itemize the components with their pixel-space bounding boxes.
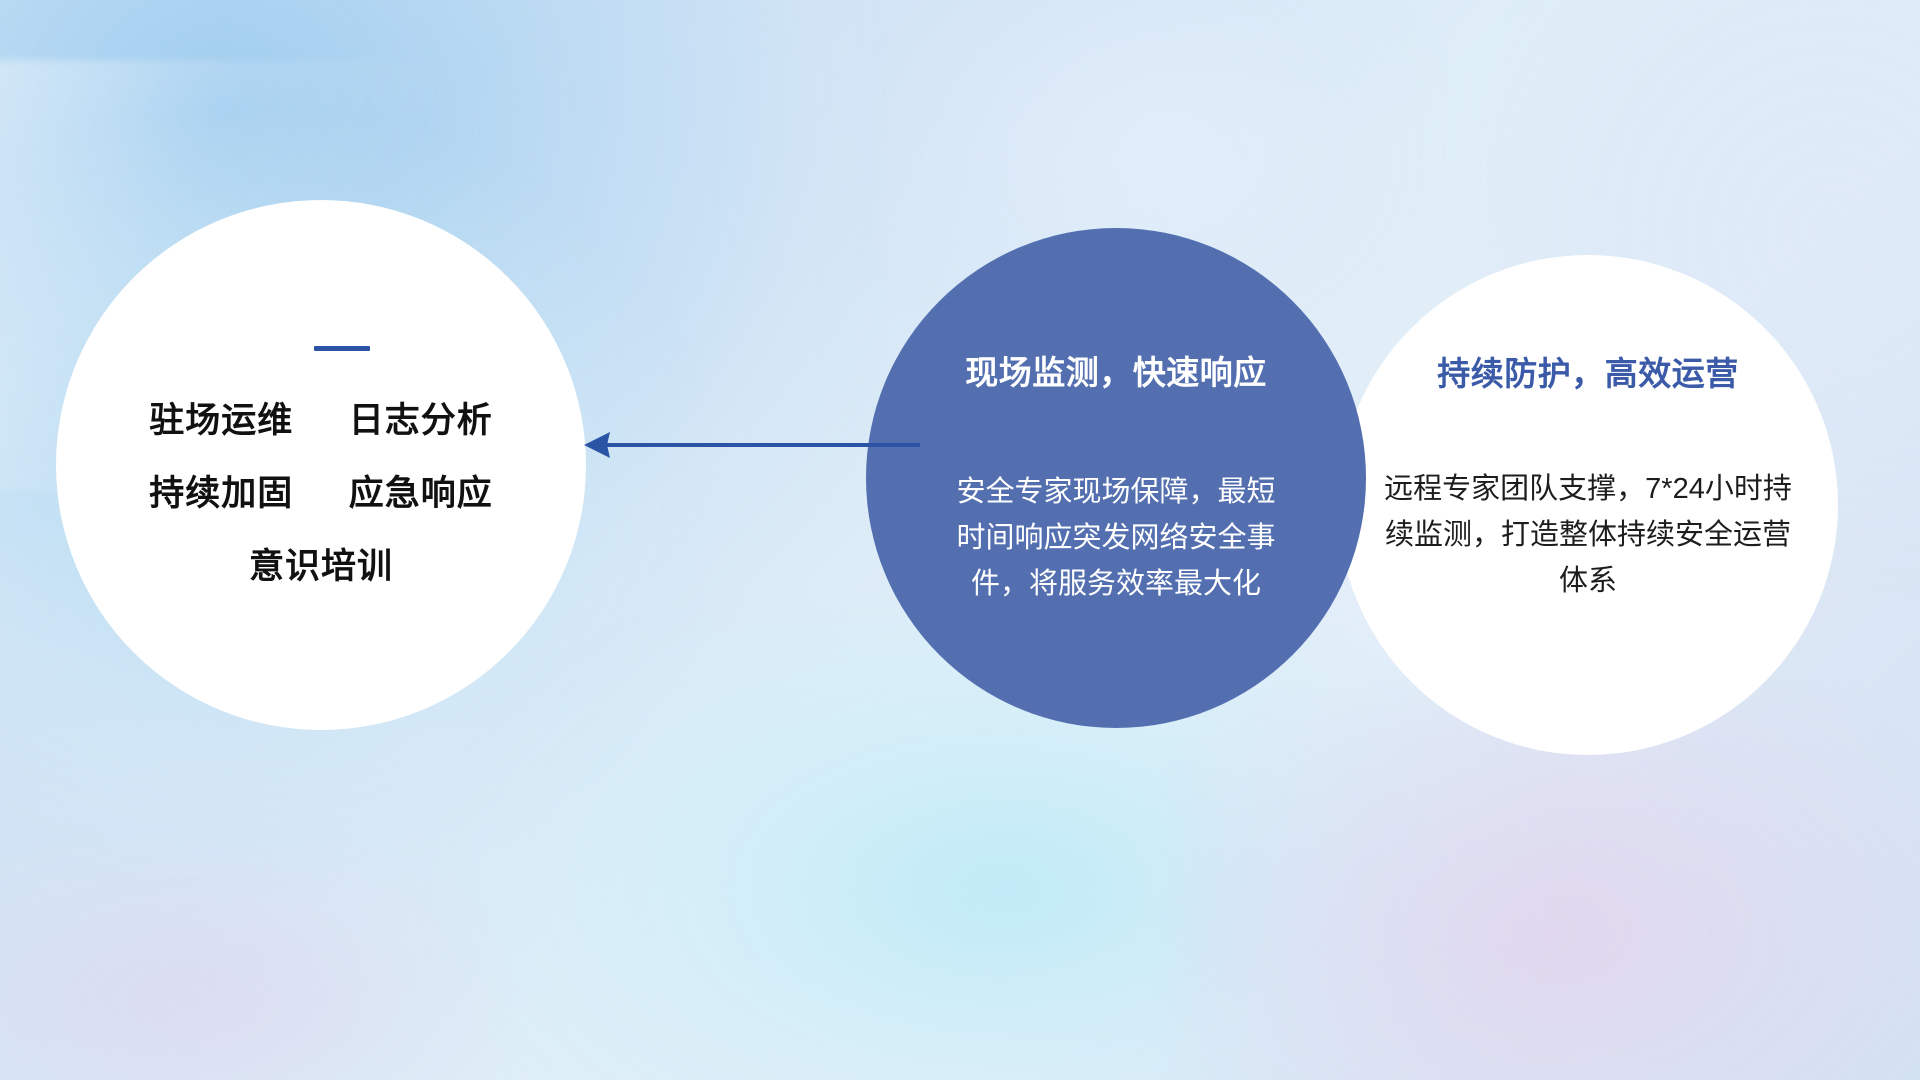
background-glow-bottom-lilac [1180,700,1920,1080]
left-circle-line-3: 意识培训 [249,549,393,584]
left-tag-yishipeixun: 意识培训 [249,547,393,586]
right-circle-heading: 持续防护，高效运营 [1437,347,1739,395]
left-tag-chixujiagu: 持续加固 [149,474,293,513]
right-circle-content: 持续防护，高效运营 远程专家团队支撑，7*24小时持续监测，打造整体持续安全运营… [1338,255,1838,755]
left-tag-zhuchangyunwei: 驻场运维 [149,401,293,440]
left-circle-content: 驻场运维 日志分析 持续加固 应急响应 意识培训 [56,200,586,730]
left-tag-rizhifenxi: 日志分析 [349,401,493,440]
middle-circle-body-text: 安全专家现场保障，最短时间响应突发网络安全事件，将服务效率最大化 [951,470,1281,607]
right-circle-body-text: 远程专家团队支撑，7*24小时持续监测，打造整体持续安全运营体系 [1383,467,1793,604]
background-glow-bottom-left-lilac [0,840,500,1080]
left-tag-yingjixiangying: 应急响应 [349,474,493,513]
middle-circle-heading: 现场监测，快速响应 [965,346,1267,394]
left-circle-line-1: 驻场运维 日志分析 [149,403,493,438]
slide-canvas: 驻场运维 日志分析 持续加固 应急响应 意识培训 持续防护，高效运营 远程专家团… [0,0,1920,1080]
left-circle-divider [314,346,370,351]
middle-circle-content: 现场监测，快速响应 安全专家现场保障，最短时间响应突发网络安全事件，将服务效率最… [866,228,1366,728]
left-circle-line-2: 持续加固 应急响应 [149,476,493,511]
